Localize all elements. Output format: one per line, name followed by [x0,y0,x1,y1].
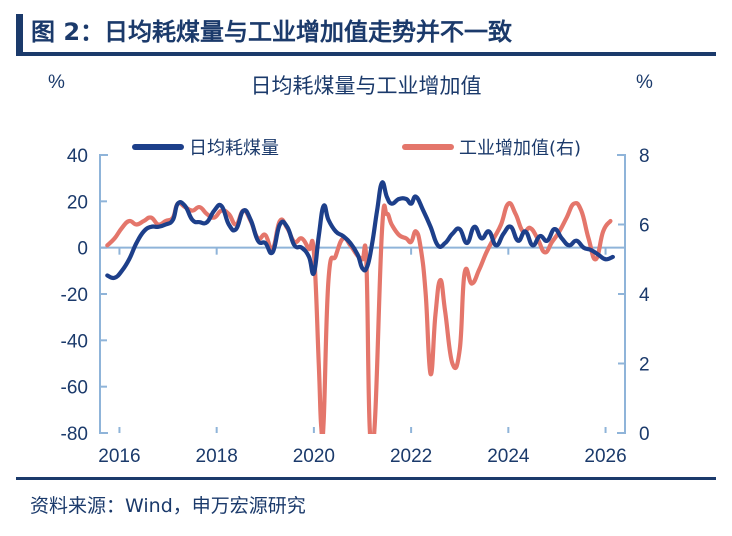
left-tick-label: 20 [67,192,88,213]
left-tick-label: -60 [61,378,88,399]
right-tick-label: 8 [639,146,650,167]
right-tick-label: 0 [639,424,650,445]
source-note: 资料来源：Wind，申万宏源研究 [30,491,306,518]
right-tick-label: 4 [639,285,650,306]
figure-container: 图 2：日均耗煤量与工业增加值走势并不一致 % 日均耗煤量与工业增加值 % 日均… [0,0,732,536]
x-tick-label: 2026 [584,446,626,467]
left-tick-label: -20 [61,285,88,306]
left-tick-label: -40 [61,331,88,352]
right-tick-label: 6 [639,216,650,237]
right-tick-label: 2 [639,355,650,376]
x-tick-label: 2020 [293,446,335,467]
left-tick-label: 40 [67,146,88,167]
left-tick-label: 0 [77,239,88,260]
x-tick-label: 2018 [196,446,238,467]
plot-area: 40200-20-40-60-8086420201620182020202220… [0,0,732,480]
left-tick-label: -80 [61,424,88,445]
x-tick-label: 2024 [487,446,530,467]
footer-divider [16,477,716,480]
x-tick-label: 2022 [390,446,432,467]
chart-svg: 40200-20-40-60-8086420201620182020202220… [0,0,732,480]
series-line-coal [107,182,613,278]
x-tick-label: 2016 [98,446,140,467]
